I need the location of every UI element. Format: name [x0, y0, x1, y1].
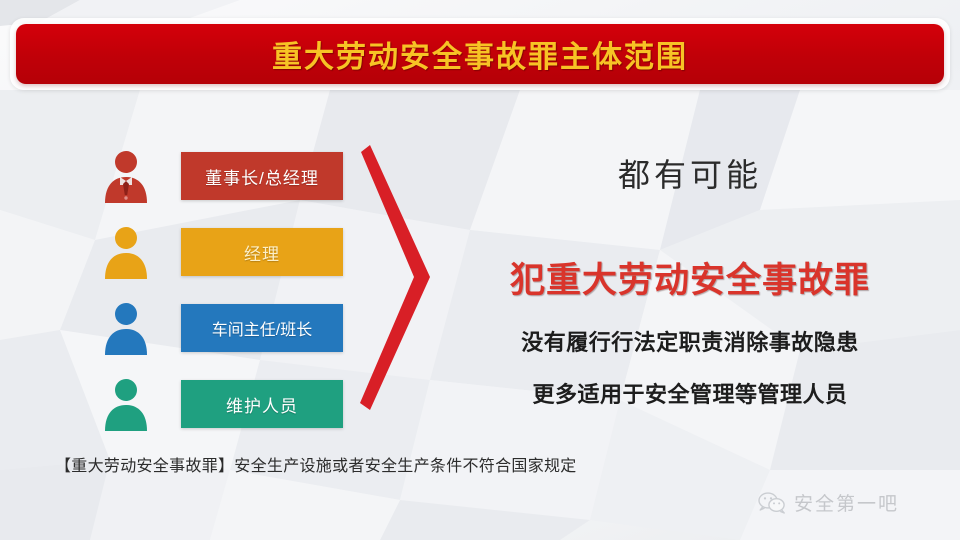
- role-row-chairman[interactable]: 董事长/总经理: [100, 138, 360, 214]
- role-row-maintenance[interactable]: 维护人员: [100, 366, 360, 442]
- watermark-text: 安全第一吧: [794, 489, 899, 516]
- role-label-chairman: 董事长/总经理: [205, 164, 319, 189]
- role-label-manager: 经理: [244, 240, 280, 265]
- person-suit-icon: [100, 148, 152, 204]
- headline-text: 都有可能: [455, 150, 925, 196]
- message-panel: 都有可能 犯重大劳动安全事故罪 没有履行行法定职责消除事故隐患 更多适用于安全管…: [455, 150, 925, 429]
- footer-caption: 【重大劳动安全事故罪】安全生产设施或者安全生产条件不符合国家规定: [55, 452, 577, 476]
- role-label-workshop-director: 车间主任/班长: [212, 316, 312, 340]
- crime-title: 犯重大劳动安全事故罪: [455, 252, 925, 303]
- role-row-workshop-director[interactable]: 车间主任/班长: [100, 290, 360, 366]
- person-icon: [100, 376, 152, 432]
- role-list: 董事长/总经理 经理 车间主任/: [100, 138, 360, 442]
- role-label-maintenance: 维护人员: [226, 392, 298, 417]
- role-bar-workshop-director[interactable]: 车间主任/班长: [181, 304, 343, 352]
- person-icon: [100, 300, 152, 356]
- role-bar-maintenance[interactable]: 维护人员: [181, 380, 343, 428]
- watermark: 安全第一吧: [758, 489, 899, 516]
- page-title: 重大劳动安全事故罪主体范围: [272, 32, 688, 76]
- slide-canvas: 重大劳动安全事故罪主体范围 董事长/总经理: [0, 0, 960, 540]
- title-banner: 重大劳动安全事故罪主体范围: [16, 24, 944, 84]
- role-row-manager[interactable]: 经理: [100, 214, 360, 290]
- wechat-icon: [758, 492, 786, 514]
- role-bar-manager[interactable]: 经理: [181, 228, 343, 276]
- detail-line-1: 没有履行行法定职责消除事故隐患: [455, 325, 925, 357]
- chevron-right-icon: [352, 145, 462, 410]
- detail-line-2: 更多适用于安全管理等管理人员: [455, 377, 925, 409]
- person-icon: [100, 224, 152, 280]
- role-bar-chairman[interactable]: 董事长/总经理: [181, 152, 343, 200]
